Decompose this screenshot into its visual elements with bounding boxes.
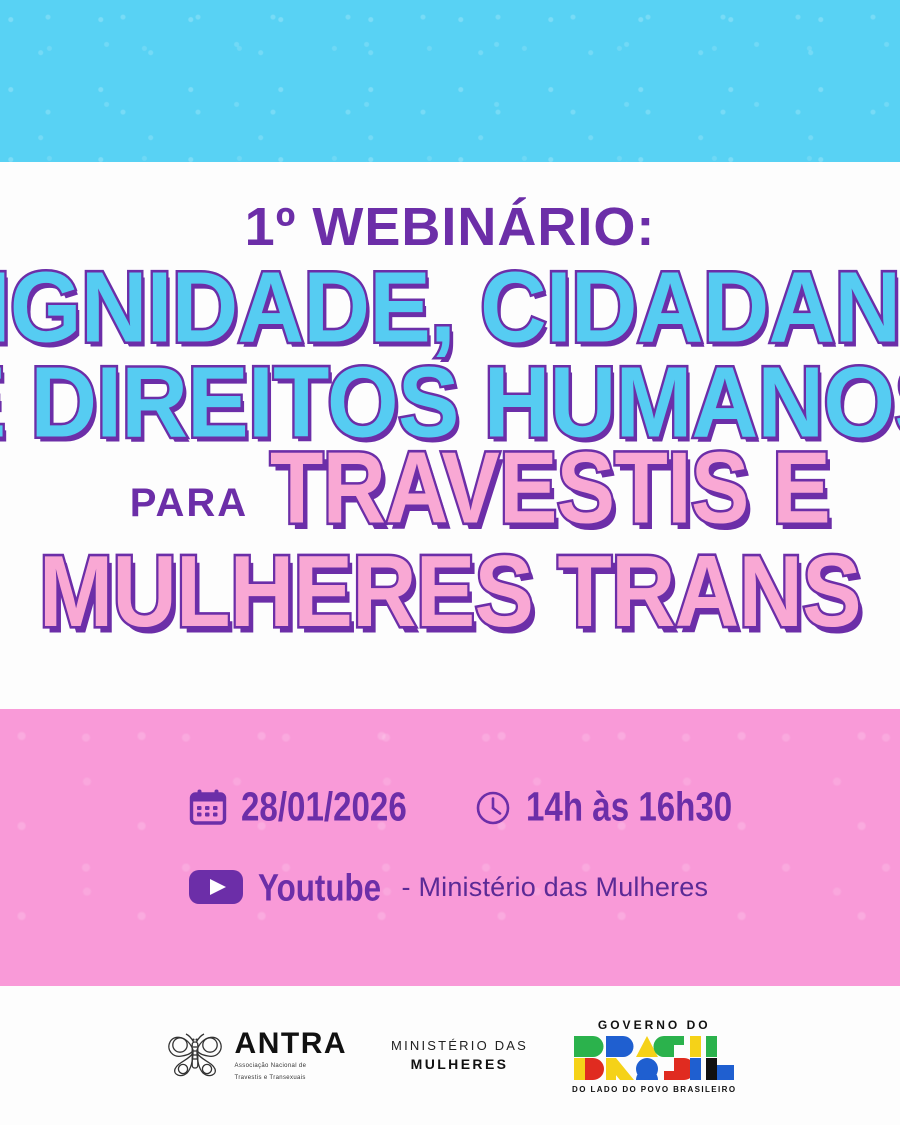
headline-para-row: PARA TRAVESTIS E bbox=[0, 462, 900, 537]
brasil-wordmark-icon bbox=[572, 1035, 736, 1081]
event-channel-row[interactable]: Youtube - Ministério das Mulheres bbox=[188, 867, 708, 907]
headline-block: 1º WEBINÁRIO: DIGNIDADE, CIDADANIA E DIR… bbox=[0, 162, 900, 709]
footer-logos: ANTRA Associação Nacional de Travestis e… bbox=[0, 986, 900, 1125]
antra-wordmark: ANTRA bbox=[235, 1029, 348, 1059]
event-info-block: 28/01/2026 14h às 16h30 Youtube - Minist… bbox=[0, 709, 900, 986]
event-date-text: 28/01/2026 bbox=[241, 787, 407, 827]
event-datetime-row: 28/01/2026 14h às 16h30 bbox=[188, 787, 750, 827]
government-top-text: GOVERNO DO bbox=[598, 1018, 711, 1032]
event-time-text: 14h às 16h30 bbox=[526, 787, 732, 827]
youtube-label[interactable]: Youtube bbox=[258, 868, 381, 906]
antra-text-lockup: ANTRA Associação Nacional de Travestis e… bbox=[235, 1029, 348, 1082]
event-kicker: 1º WEBINÁRIO: bbox=[0, 200, 900, 254]
headline-line-1: DIGNIDADE, CIDADANIA bbox=[0, 260, 900, 356]
youtube-channel-name: - Ministério das Mulheres bbox=[402, 874, 709, 901]
calendar-icon bbox=[188, 787, 228, 827]
antra-subtitle-line-2: Travestis e Transexuais bbox=[235, 1074, 306, 1083]
antra-logo: ANTRA Associação Nacional de Travestis e… bbox=[164, 1029, 348, 1082]
headline-line-4: MULHERES TRANS bbox=[0, 543, 900, 640]
government-logo: GOVERNO DO bbox=[572, 1018, 736, 1094]
headline-line-3: TRAVESTIS E bbox=[270, 440, 830, 537]
ministry-logo: MINISTÉRIO DAS MULHERES bbox=[391, 1037, 528, 1073]
butterfly-icon bbox=[164, 1030, 226, 1082]
event-time-chip: 14h às 16h30 bbox=[473, 787, 750, 827]
poster-canvas: 1º WEBINÁRIO: DIGNIDADE, CIDADANIA E DIR… bbox=[0, 0, 900, 1125]
youtube-icon[interactable] bbox=[188, 867, 244, 907]
ministry-line-1: MINISTÉRIO DAS bbox=[391, 1037, 528, 1055]
headline-para-word: PARA bbox=[130, 483, 248, 537]
clock-icon bbox=[473, 787, 513, 827]
event-date-chip: 28/01/2026 bbox=[188, 787, 421, 827]
top-color-band bbox=[0, 0, 900, 162]
ministry-line-2: MULHERES bbox=[411, 1055, 509, 1074]
government-bottom-text: DO LADO DO POVO BRASILEIRO bbox=[572, 1085, 736, 1094]
antra-subtitle-line-1: Associação Nacional de bbox=[235, 1062, 307, 1071]
